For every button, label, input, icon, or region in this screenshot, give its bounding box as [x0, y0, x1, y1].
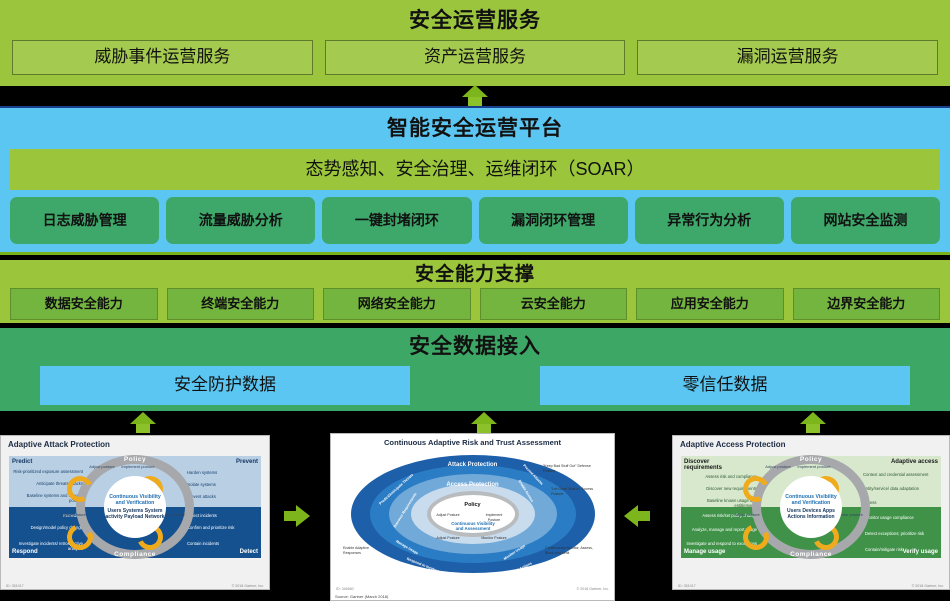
left-hub-line1: Continuous Visibility and Verification: [104, 494, 166, 507]
data-box-protection-data[interactable]: 安全防护数据: [40, 366, 410, 405]
separator-ops-platform: [0, 86, 950, 106]
reference-panels-area: Adaptive Attack Protection Predict Risk-…: [0, 411, 950, 582]
module-vulnerability-closed-loop[interactable]: 漏洞闭环管理: [479, 197, 628, 244]
capability-application-security[interactable]: 应用安全能力: [636, 288, 784, 320]
arrow-left-icon-1: [624, 505, 650, 527]
panel-left-id: ID: 351017: [6, 584, 24, 588]
carta-inner-adjust-2: Adjust Posture: [435, 536, 461, 541]
ops-box-threat-event[interactable]: 威胁事件运营服务: [12, 40, 313, 75]
ops-box-vulnerability[interactable]: 漏洞运营服务: [637, 40, 938, 75]
capability-endpoint-security[interactable]: 终端安全能力: [167, 288, 315, 320]
mini-label-implement: Implement posture: [121, 464, 155, 469]
carta-note-let-good-in: "Let Good Stuff In" Access Posture: [551, 487, 603, 496]
arc-arrow-1-icon: [63, 472, 96, 505]
up-arrow-center-icon: [471, 412, 497, 433]
panel-right-id: ID: 351017: [678, 584, 696, 588]
panel-left-footer: ID: 351017 © 2018 Gartner, Inc.: [1, 584, 269, 588]
platform-module-row: 日志威胁管理 流量威胁分析 一键封堵闭环 漏洞闭环管理 异常行为分析 网站安全监…: [10, 197, 940, 244]
right-hub: Continuous Visibility and Verification U…: [780, 476, 842, 538]
panel-left-copyright: © 2018 Gartner, Inc.: [232, 584, 264, 588]
up-arrow-left-icon: [130, 412, 156, 433]
right-mini-adjust-left: Adjust posture: [727, 512, 767, 517]
left-hub-line2: Users Systems System activity Payload Ne…: [104, 508, 166, 520]
data-access-band-title: 安全数据接入: [0, 332, 950, 362]
capability-band-title: 安全能力支撑: [8, 262, 942, 288]
capability-network-security[interactable]: 网络安全能力: [323, 288, 471, 320]
panel-adaptive-access-protection[interactable]: Adaptive Access Protection Discover requ…: [672, 435, 950, 590]
right-quadrants: Discover requirements Assess risk and co…: [681, 456, 941, 558]
panel-center-source: Source: Gartner (March 2018): [335, 594, 388, 599]
mini-label-adjust-left: Adjust posture: [53, 512, 93, 517]
carta-label-access-protection: Access Protection: [446, 482, 498, 488]
panel-center-copyright: © 2018 Gartner, Inc.: [577, 587, 609, 591]
arc-arrow-3-icon: [63, 520, 96, 553]
left-wheel: Predict Risk-prioritized exposure assess…: [1, 452, 269, 574]
platform-band-title: 智能安全运营平台: [10, 114, 940, 144]
carta-label-policy: Policy: [464, 502, 480, 508]
capability-data-security[interactable]: 数据安全能力: [10, 288, 158, 320]
capability-boundary-security[interactable]: 边界安全能力: [793, 288, 941, 320]
right-hub-line2: Users Devices Apps Actions Information: [780, 508, 842, 520]
right-mini-implement: Implement posture: [797, 464, 831, 469]
data-access-band: 安全数据接入 安全防护数据 零信任数据: [0, 328, 950, 411]
left-quadrants: Predict Risk-prioritized exposure assess…: [9, 456, 261, 558]
panel-left-title: Adaptive Attack Protection: [1, 436, 269, 452]
panel-adaptive-attack-protection[interactable]: Adaptive Attack Protection Predict Risk-…: [0, 435, 270, 590]
arrow-right-icon-1: [284, 505, 310, 527]
panel-right-footer: ID: 351017 © 2018 Gartner, Inc.: [673, 584, 949, 588]
module-one-click-blocking[interactable]: 一键封堵闭环: [322, 197, 471, 244]
carta-note-adaptive-responses: Enable Adaptive Responses: [343, 546, 385, 555]
ops-band-title: 安全运营服务: [0, 6, 950, 36]
module-anomaly-behavior-analysis[interactable]: 异常行为分析: [635, 197, 784, 244]
carta-inner-monitor: Monitor Posture: [479, 536, 509, 541]
arc-arrow-5-icon: [739, 472, 772, 505]
security-operations-service-band: 安全运营服务 威胁事件运营服务 资产运营服务 漏洞运营服务: [0, 0, 950, 86]
module-log-threat-management[interactable]: 日志威胁管理: [10, 197, 159, 244]
carta-inner-adjust-1: Adjust Posture: [435, 513, 461, 518]
up-arrow-right-icon: [800, 412, 826, 433]
carta-wheel: Attack Protection Access Protection Poli…: [331, 450, 614, 578]
up-arrow-icon: [462, 85, 488, 106]
panel-center-id: ID: 346560: [336, 587, 354, 591]
soar-bar: 态势感知、安全治理、运维闭环（SOAR）: [10, 149, 940, 190]
right-hub-line1: Continuous Visibility and Verification: [780, 494, 842, 507]
panel-center-footer: ID: 346560 © 2018 Gartner, Inc.: [331, 587, 614, 591]
architecture-diagram: 安全运营服务 威胁事件运营服务 资产运营服务 漏洞运营服务 智能安全运营平台 态…: [0, 0, 950, 582]
module-website-security-monitoring[interactable]: 网站安全监测: [791, 197, 940, 244]
mini-label-adjust-top: Adjust posture: [87, 464, 117, 469]
right-mini-adjust-top: Adjust posture: [763, 464, 793, 469]
ops-box-row: 威胁事件运营服务 资产运营服务 漏洞运营服务: [0, 36, 950, 75]
capability-support-band: 安全能力支撑 数据安全能力 终端安全能力 网络安全能力 云安全能力 应用安全能力…: [0, 260, 950, 323]
panel-right-title: Adaptive Access Protection: [673, 436, 949, 452]
carta-label-attack-protection: Attack Protection: [448, 462, 498, 468]
panel-right-copyright: © 2018 Gartner, Inc.: [912, 584, 944, 588]
data-box-zero-trust-data[interactable]: 零信任数据: [540, 366, 910, 405]
ops-box-asset[interactable]: 资产运营服务: [325, 40, 626, 75]
left-hub: Continuous Visibility and Verification U…: [104, 476, 166, 538]
carta-hub-text: Continuous Visibility and Assessment: [449, 522, 497, 531]
right-wheel: Discover requirements Assess risk and co…: [673, 452, 949, 574]
intelligent-platform-band: 智能安全运营平台 态势感知、安全治理、运维闭环（SOAR） 日志威胁管理 流量威…: [0, 106, 950, 252]
carta-note-keep-bad-out: "Keep Bad Stuff Out" Defense Posture: [543, 464, 595, 473]
bottom-up-arrows: [0, 411, 950, 435]
capability-cloud-security[interactable]: 云安全能力: [480, 288, 628, 320]
data-access-row: 安全防护数据 零信任数据: [0, 362, 950, 405]
module-traffic-threat-analysis[interactable]: 流量威胁分析: [166, 197, 315, 244]
capability-row: 数据安全能力 终端安全能力 网络安全能力 云安全能力 应用安全能力 边界安全能力: [8, 288, 942, 320]
panel-center-title: Continuous Adaptive Risk and Trust Asses…: [331, 434, 614, 450]
carta-note-monitor-assess: Continuously Monitor, Assess, Block and …: [545, 546, 601, 555]
panel-carta[interactable]: Continuous Adaptive Risk and Trust Asses…: [330, 433, 615, 601]
arc-arrow-7-icon: [739, 520, 772, 553]
